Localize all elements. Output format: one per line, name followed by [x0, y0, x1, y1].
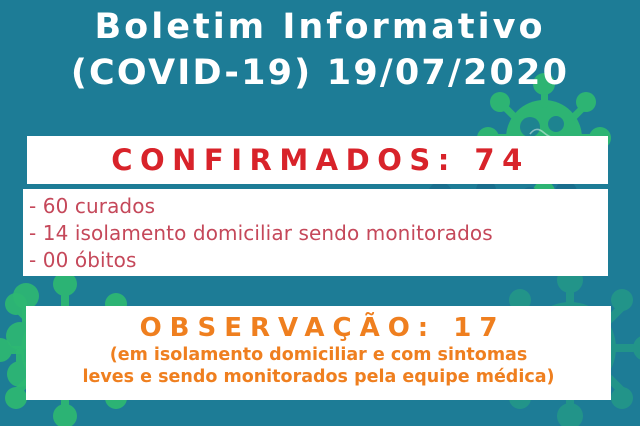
- case-breakdown-item-isolation: - 14 isolamento domiciliar sendo monitor…: [29, 220, 608, 247]
- page-title-line2: (COVID-19) 19/07/2020: [0, 50, 640, 96]
- confirmed-cases-label: CONFIRMADOS: 74: [105, 143, 530, 177]
- case-breakdown-item-cured: - 60 curados: [29, 193, 608, 220]
- covid-bulletin-poster: Boletim Informativo (COVID-19) 19/07/202…: [0, 0, 640, 426]
- observation-panel: OBSERVAÇÃO: 17 (em isolamento domiciliar…: [26, 306, 611, 400]
- observation-label: OBSERVAÇÃO: 17: [26, 312, 611, 344]
- poster-header: Boletim Informativo (COVID-19) 19/07/202…: [0, 0, 640, 96]
- page-title-line1: Boletim Informativo: [0, 4, 640, 50]
- observation-note-line1: (em isolamento domiciliar e com sintomas: [26, 344, 611, 366]
- observation-note-line2: leves e sendo monitorados pela equipe mé…: [26, 366, 611, 388]
- case-breakdown-item-deaths: - 00 óbitos: [29, 247, 608, 274]
- case-breakdown-panel: - 60 curados - 14 isolamento domiciliar …: [23, 189, 608, 276]
- confirmed-cases-panel: CONFIRMADOS: 74: [27, 136, 608, 184]
